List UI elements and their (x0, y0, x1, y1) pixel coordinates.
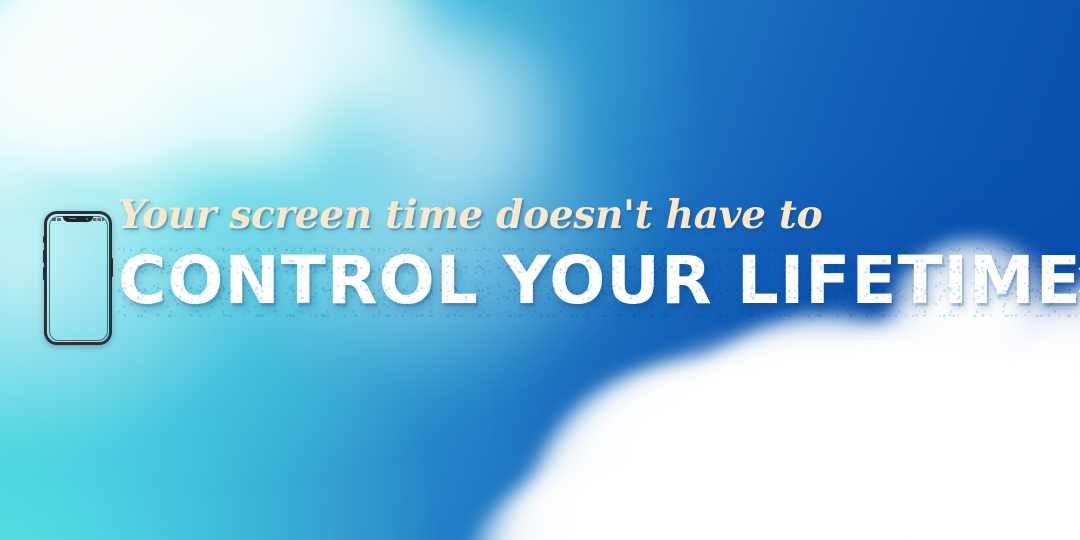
smartphone-mockup (44, 211, 112, 345)
banner-eyebrow-text: Your screen time doesn't have to (118, 196, 1048, 235)
phone-signal-icon (52, 218, 61, 221)
phone-volume-up-button (43, 250, 46, 263)
banner-copy: Your screen time doesn't have to CONTROL… (118, 196, 1048, 314)
banner-headline-wrap: CONTROL YOUR LIFETIME (118, 248, 1080, 314)
banner-headline-row: CONTROL YOUR LIFETIME (118, 248, 1048, 314)
phone-screen (49, 216, 108, 341)
phone-silent-switch (43, 236, 46, 243)
banner-headline-text: CONTROL YOUR LIFETIME (118, 242, 1080, 319)
cloud-puff (190, 45, 375, 185)
phone-notch-icon (63, 216, 93, 223)
phone-battery-icon (93, 218, 104, 221)
phone-power-button (111, 258, 114, 277)
phone-volume-down-button (43, 267, 46, 280)
promo-banner: Your screen time doesn't have to CONTROL… (0, 0, 1080, 540)
cloud-puff (340, 25, 585, 200)
